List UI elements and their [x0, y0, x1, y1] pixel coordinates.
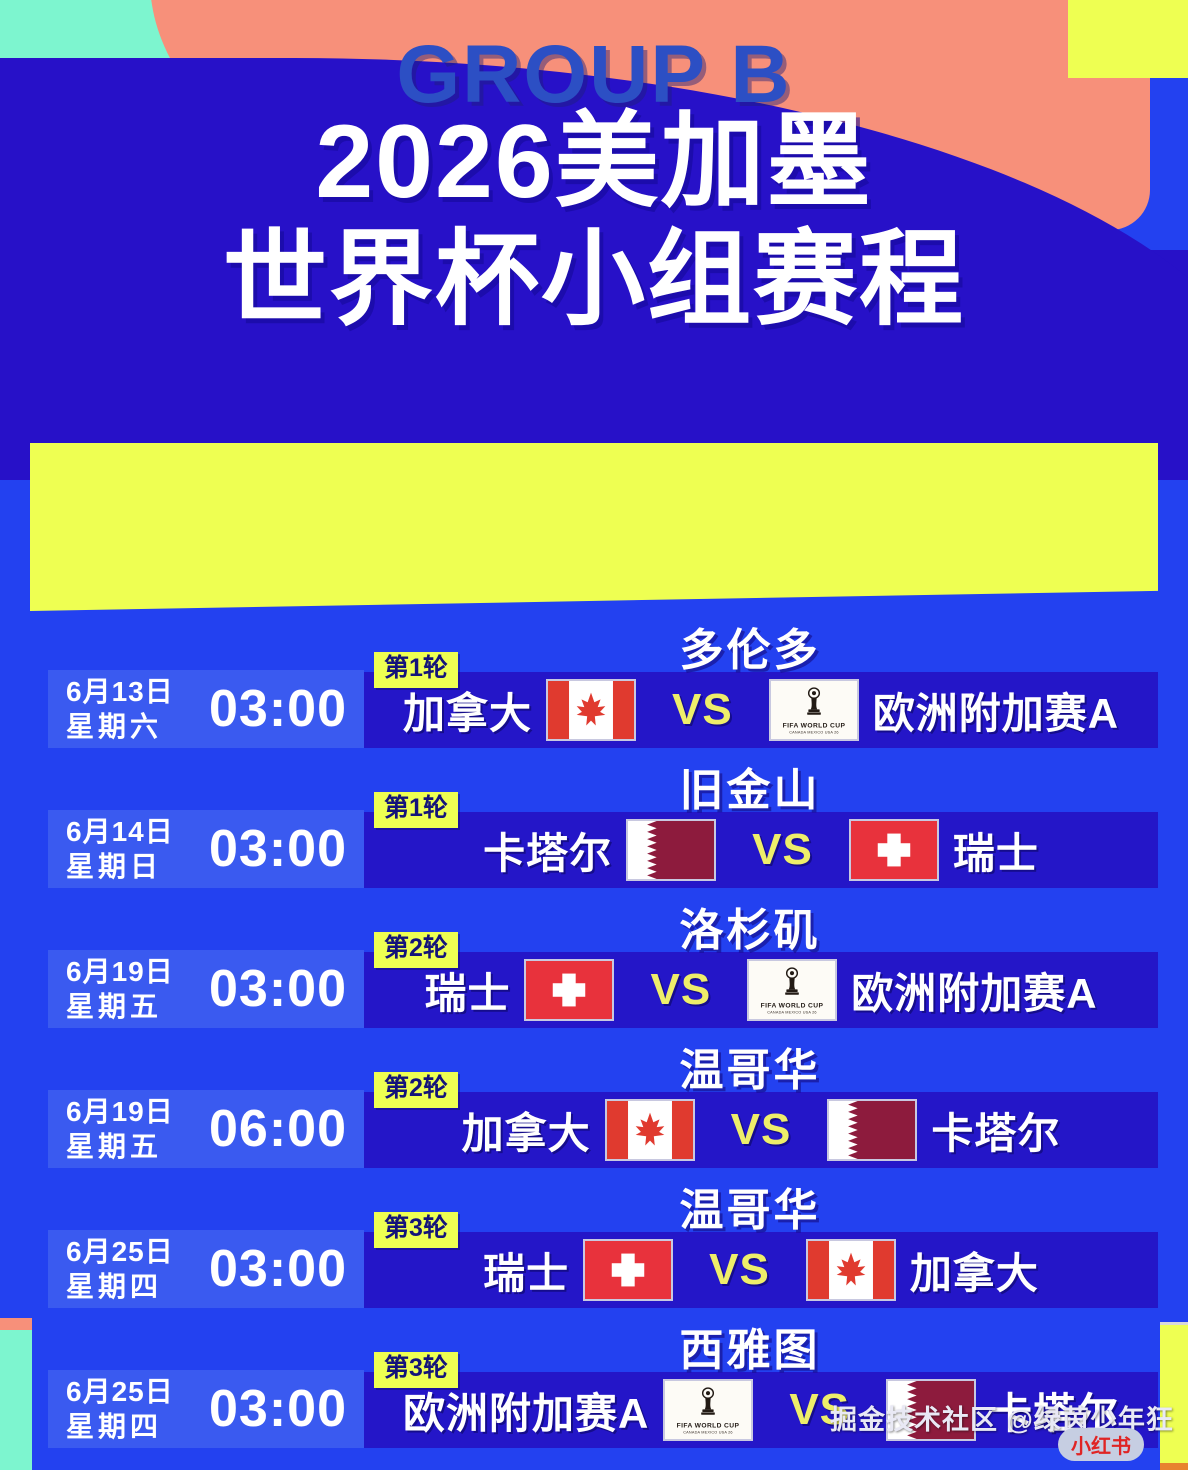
match-date: 6月14日 [66, 814, 198, 849]
match-round-tag: 第3轮 [374, 1212, 458, 1248]
match-fixture: 卡塔尔VS瑞士 [364, 812, 1158, 888]
match-datetime-box: 6月25日星期四03:00 [48, 1370, 364, 1448]
match-date-column: 6月25日星期四 [48, 1234, 198, 1304]
vs-separator: VS [709, 1245, 770, 1295]
match-round-tag: 第2轮 [374, 932, 458, 968]
match-kickoff-time: 03:00 [198, 1379, 364, 1439]
away-team-name: 瑞士 [953, 820, 1039, 881]
fifa-world-cup-trophy-icon: FIFA WORLD CUPCANADA MEXICO USA 26 [747, 959, 837, 1021]
home-team-name: 加拿大 [403, 680, 532, 741]
match-datetime-box: 6月19日星期五03:00 [48, 950, 364, 1028]
match-date-column: 6月13日星期六 [48, 674, 198, 744]
match-venue: 温哥华 [470, 1174, 1030, 1238]
match-round-tag: 第2轮 [374, 1072, 458, 1108]
match-row: 温哥华第3轮6月25日星期四03:00瑞士VS加拿大 [0, 1172, 1188, 1312]
home-team-name: 加拿大 [462, 1100, 591, 1161]
match-date-column: 6月14日星期日 [48, 814, 198, 884]
match-row: 西雅图第3轮6月25日星期四03:00欧洲附加赛AFIFA WORLD CUPC… [0, 1312, 1188, 1462]
match-datetime-box: 6月25日星期四03:00 [48, 1230, 364, 1308]
match-row: 洛杉矶第2轮6月19日星期五03:00瑞士VSFIFA WORLD CUPCAN… [0, 892, 1188, 1032]
match-venue: 洛杉矶 [470, 894, 1030, 958]
switzerland-flag [524, 959, 614, 1021]
match-fixture: 瑞士VSFIFA WORLD CUPCANADA MEXICO USA 26欧洲… [364, 952, 1158, 1028]
canada-flag [806, 1239, 896, 1301]
match-date: 6月13日 [66, 674, 198, 709]
orange-bottom-tip [1160, 1463, 1188, 1470]
match-datetime-box: 6月19日星期五06:00 [48, 1090, 364, 1168]
match-row: 多伦多第1轮6月13日星期六03:00加拿大VSFIFA WORLD CUPCA… [0, 612, 1188, 752]
match-fixture: 加拿大VSFIFA WORLD CUPCANADA MEXICO USA 26欧… [364, 672, 1158, 748]
home-team-name: 欧洲附加赛A [403, 1380, 649, 1441]
xiaohongshu-badge: 小红书 [1058, 1428, 1144, 1461]
svg-text:CANADA MEXICO USA 26: CANADA MEXICO USA 26 [684, 1431, 734, 1435]
match-date-column: 6月19日星期五 [48, 954, 198, 1024]
match-date: 6月25日 [66, 1234, 198, 1269]
match-kickoff-time: 03:00 [198, 819, 364, 879]
match-round-tag: 第1轮 [374, 652, 458, 688]
vs-separator: VS [650, 965, 711, 1015]
match-date: 6月19日 [66, 1094, 198, 1129]
switzerland-flag [849, 819, 939, 881]
home-team-name: 卡塔尔 [483, 820, 612, 881]
qatar-flag [626, 819, 716, 881]
match-weekday: 星期五 [66, 1129, 198, 1164]
match-venue: 多伦多 [470, 614, 1030, 678]
match-datetime-box: 6月14日星期日03:00 [48, 810, 364, 888]
switzerland-flag [583, 1239, 673, 1301]
match-kickoff-time: 06:00 [198, 1099, 364, 1159]
match-round-tag: 第1轮 [374, 792, 458, 828]
match-row: 温哥华第2轮6月19日星期五06:00加拿大VS卡塔尔 [0, 1032, 1188, 1172]
svg-text:FIFA WORLD CUP: FIFA WORLD CUP [677, 1422, 740, 1429]
match-kickoff-time: 03:00 [198, 679, 364, 739]
match-date: 6月25日 [66, 1374, 198, 1409]
group-banner-label: GROUP B [0, 28, 1188, 122]
match-weekday: 星期四 [66, 1409, 198, 1444]
match-venue: 旧金山 [470, 754, 1030, 818]
home-team-name: 瑞士 [424, 960, 510, 1021]
home-team-name: 瑞士 [483, 1240, 569, 1301]
match-weekday: 星期六 [66, 709, 198, 744]
vs-separator: VS [752, 825, 813, 875]
away-team-name: 卡塔尔 [931, 1100, 1060, 1161]
match-venue: 温哥华 [470, 1034, 1030, 1098]
vs-separator: VS [672, 685, 733, 735]
match-round-tag: 第3轮 [374, 1352, 458, 1388]
page-title: 2026美加墨 世界杯小组赛程 [0, 110, 1188, 332]
match-date: 6月19日 [66, 954, 198, 989]
match-kickoff-time: 03:00 [198, 959, 364, 1019]
match-row: 旧金山第1轮6月14日星期日03:00卡塔尔VS瑞士 [0, 752, 1188, 892]
match-venue: 西雅图 [470, 1314, 1030, 1378]
svg-text:FIFA WORLD CUP: FIFA WORLD CUP [782, 722, 845, 729]
fifa-world-cup-trophy-icon: FIFA WORLD CUPCANADA MEXICO USA 26 [769, 679, 859, 741]
match-weekday: 星期四 [66, 1269, 198, 1304]
away-team-name: 加拿大 [910, 1240, 1039, 1301]
match-weekday: 星期五 [66, 989, 198, 1024]
away-team-name: 欧洲附加赛A [873, 680, 1119, 741]
svg-text:CANADA MEXICO USA 26: CANADA MEXICO USA 26 [767, 1011, 817, 1015]
fifa-world-cup-trophy-icon: FIFA WORLD CUPCANADA MEXICO USA 26 [663, 1379, 753, 1441]
match-datetime-box: 6月13日星期六03:00 [48, 670, 364, 748]
match-kickoff-time: 03:00 [198, 1239, 364, 1299]
vs-separator: VS [731, 1105, 792, 1155]
svg-text:FIFA WORLD CUP: FIFA WORLD CUP [761, 1002, 824, 1009]
title-line-secondary: 世界杯小组赛程 [0, 228, 1188, 332]
group-banner [30, 443, 1158, 611]
match-fixture: 瑞士VS加拿大 [364, 1232, 1158, 1308]
match-fixture: 加拿大VS卡塔尔 [364, 1092, 1158, 1168]
qatar-flag [827, 1099, 917, 1161]
canada-flag [546, 679, 636, 741]
svg-text:CANADA MEXICO USA 26: CANADA MEXICO USA 26 [789, 731, 839, 735]
match-date-column: 6月19日星期五 [48, 1094, 198, 1164]
canada-flag [605, 1099, 695, 1161]
match-schedule-list: 多伦多第1轮6月13日星期六03:00加拿大VSFIFA WORLD CUPCA… [0, 612, 1188, 1462]
match-weekday: 星期日 [66, 849, 198, 884]
title-line-primary: 2026美加墨 [0, 110, 1188, 214]
away-team-name: 欧洲附加赛A [851, 960, 1097, 1021]
match-date-column: 6月25日星期四 [48, 1374, 198, 1444]
